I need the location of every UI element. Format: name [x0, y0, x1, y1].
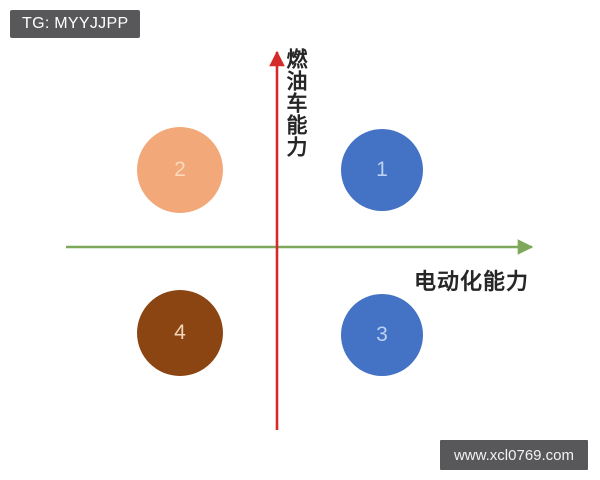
bubble-quadrant-2[interactable]: 2: [137, 127, 223, 213]
bubble-label: 3: [376, 323, 388, 347]
bubble-quadrant-4[interactable]: 3: [341, 294, 423, 376]
tag-badge-label: TG: MYYJJPP: [22, 15, 128, 33]
y-axis-label: 燃油车能力: [282, 48, 308, 158]
bubble-label: 2: [174, 158, 186, 182]
site-watermark: www.xcl0769.com: [440, 440, 588, 470]
x-axis-label: 电动化能力: [414, 270, 529, 296]
diagram-canvas: 燃油车能力 电动化能力 2 1 4 3 TG: MYYJJPP www.xcl0…: [0, 0, 600, 480]
bubble-quadrant-1[interactable]: 1: [341, 129, 423, 211]
bubble-label: 4: [174, 321, 186, 345]
bubble-quadrant-3[interactable]: 4: [137, 290, 223, 376]
bubble-label: 1: [376, 158, 388, 182]
watermark-label: www.xcl0769.com: [454, 447, 574, 464]
tag-badge: TG: MYYJJPP: [10, 10, 140, 38]
